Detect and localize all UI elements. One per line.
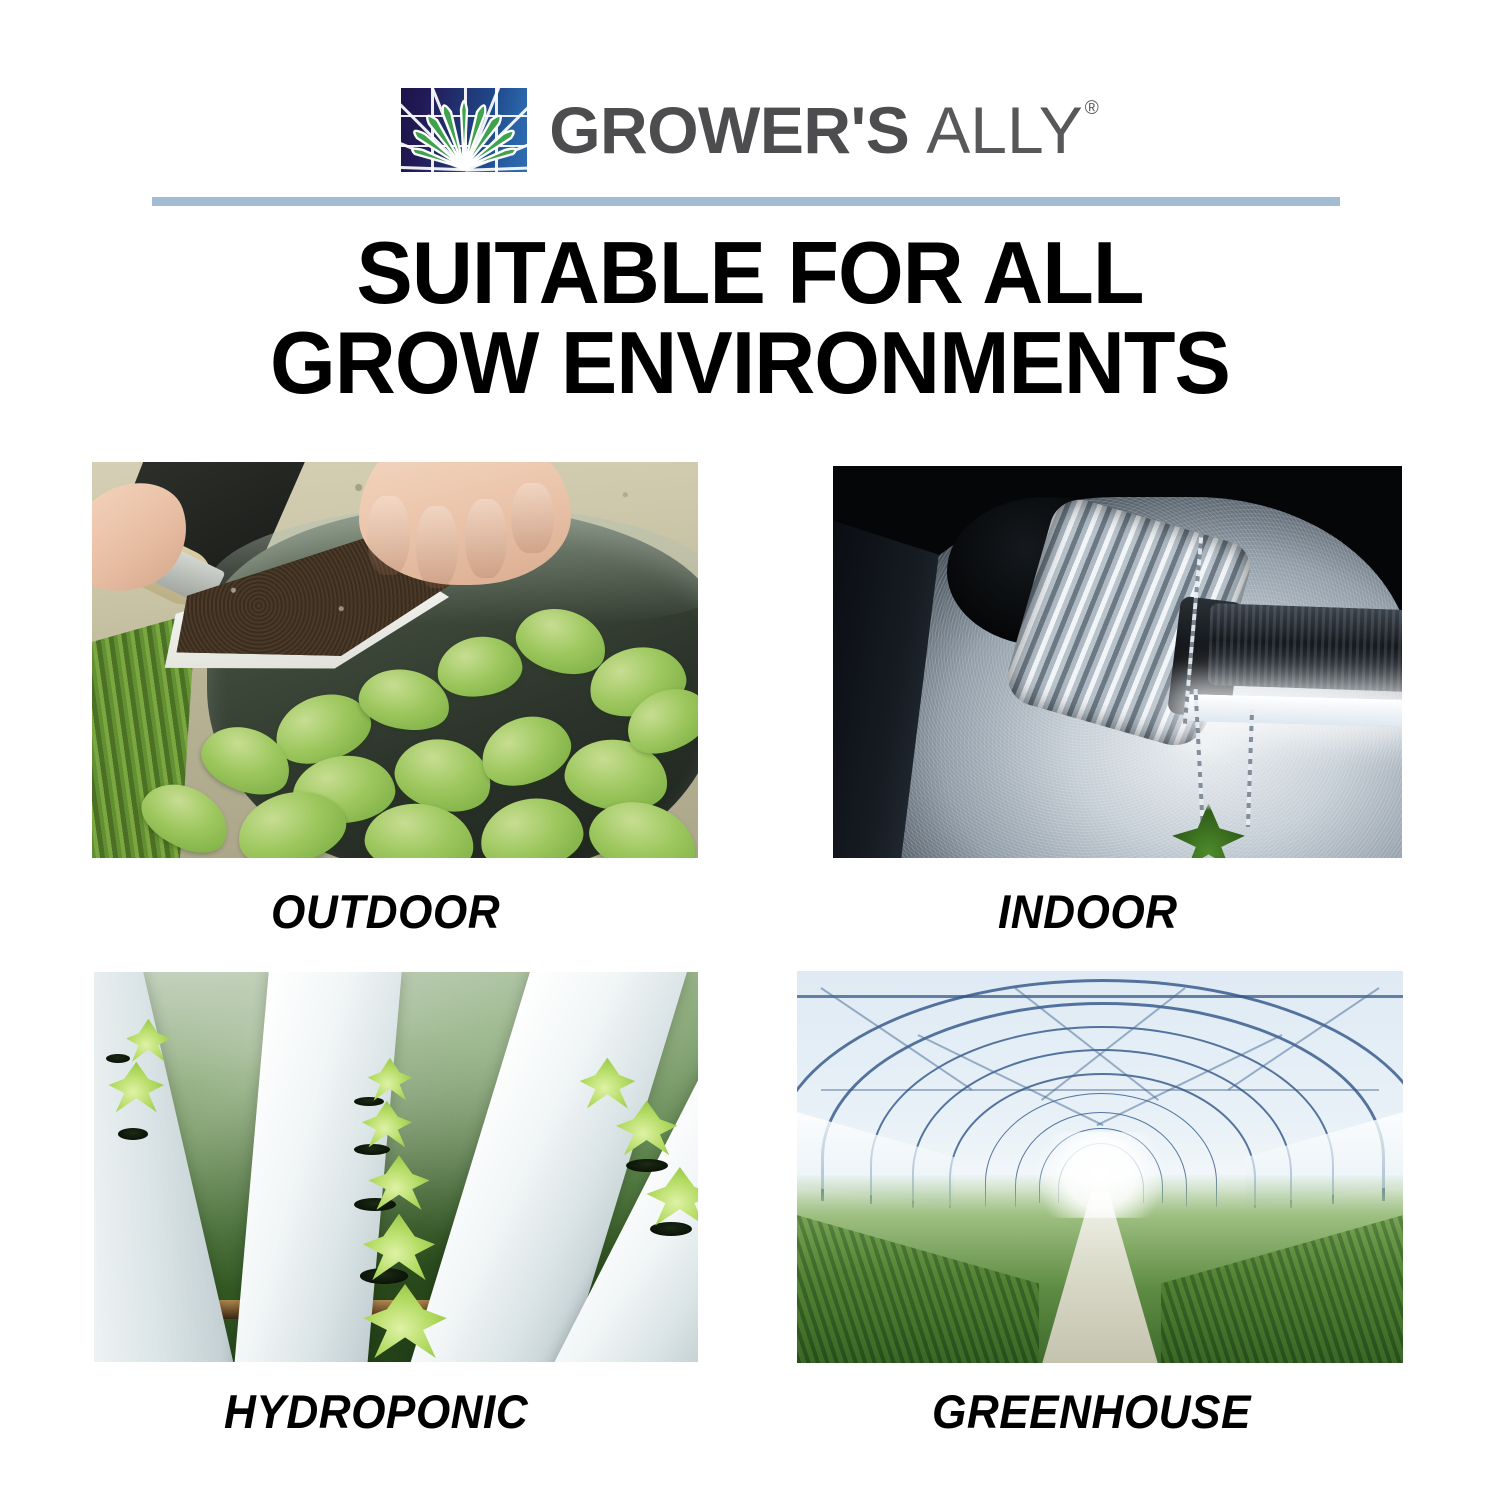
- brand-header: GROWER'S ALLY ®: [0, 82, 1500, 177]
- brand-word-secondary: ALLY: [926, 97, 1083, 163]
- page-title-line-1: SUITABLE FOR ALL: [30, 228, 1470, 318]
- cannabis-leaf-icon: [401, 88, 527, 172]
- growers-ally-logo-icon: [401, 88, 527, 172]
- panel-caption-greenhouse: GREENHOUSE: [932, 1384, 1251, 1439]
- panel-caption-outdoor: OUTDOOR: [271, 884, 500, 939]
- greenhouse-photo: [797, 971, 1403, 1363]
- carbon-filter: [1207, 603, 1402, 693]
- hydroponic-photo: [94, 972, 698, 1362]
- photo-panel-hydroponic: [94, 972, 698, 1362]
- header-divider: [152, 197, 1340, 206]
- greenhouse-purlin: [821, 1089, 1379, 1091]
- outdoor-photo: [92, 462, 698, 858]
- photo-panel-greenhouse: [797, 971, 1403, 1363]
- brand-word-primary: GROWER'S: [549, 97, 909, 163]
- right-hand: [359, 462, 571, 585]
- sun-glow: [1021, 1132, 1179, 1218]
- page-title: SUITABLE FOR ALL GROW ENVIRONMENTS: [30, 228, 1470, 408]
- indoor-photo: [833, 466, 1402, 858]
- registered-trademark-icon: ®: [1085, 99, 1099, 118]
- panel-caption-hydroponic: HYDROPONIC: [224, 1384, 528, 1439]
- potato-plant-foliage: [92, 589, 698, 858]
- brand-wordmark: GROWER'S ALLY ®: [549, 97, 1099, 163]
- photo-panel-indoor: [833, 466, 1402, 858]
- panel-caption-indoor: INDOOR: [998, 884, 1178, 939]
- greenhouse-ridge-rail: [797, 995, 1403, 998]
- photo-panel-outdoor: [92, 462, 698, 858]
- page-title-line-2: GROW ENVIRONMENTS: [30, 318, 1470, 408]
